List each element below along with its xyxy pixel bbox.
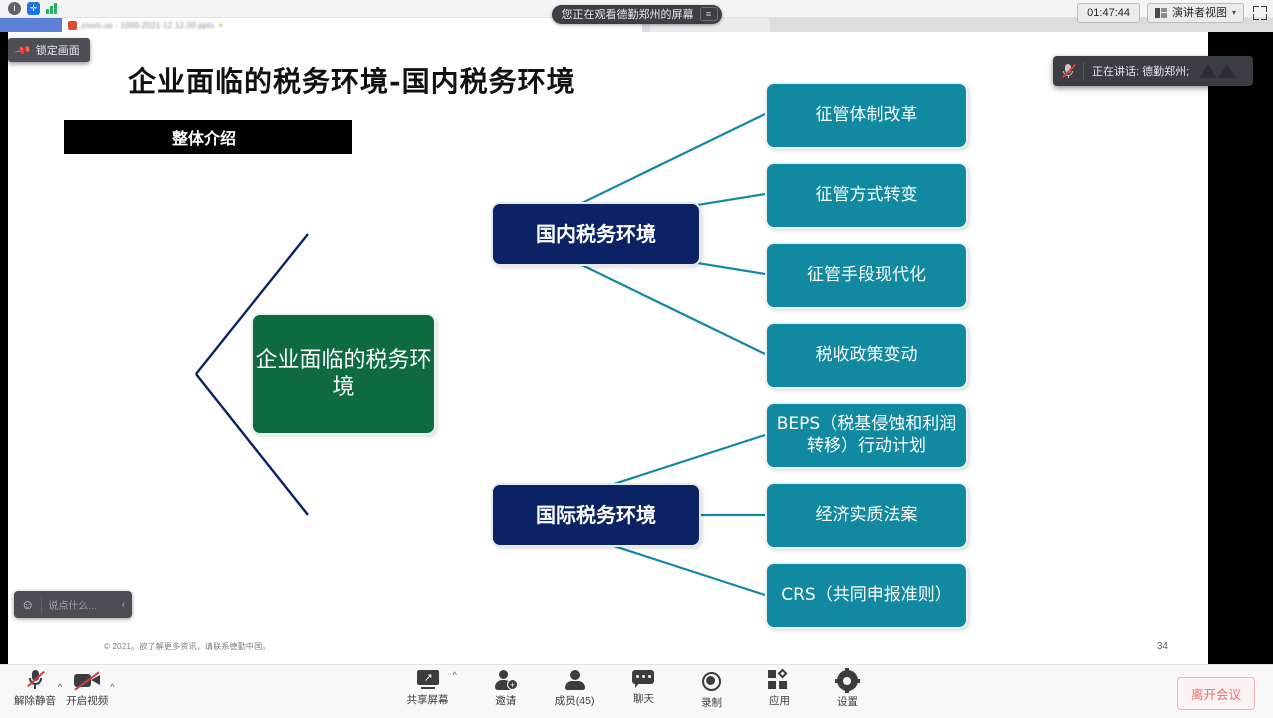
toolbar-share-screen-button[interactable]: ↗ 共享屏幕	[407, 670, 449, 707]
video-options-chevron-icon[interactable]: ^	[110, 682, 114, 692]
view-mode-label: 演讲者视图	[1172, 6, 1227, 20]
chevron-down-icon[interactable]: ▾	[1232, 8, 1236, 18]
diagram-leaf-international-2-label: 经济实质法案	[816, 505, 918, 526]
toolbar-unmute-label: 解除静音	[14, 693, 56, 708]
diagram-leaf-international-2[interactable]: 经济实质法案	[765, 482, 968, 549]
mic-muted-icon	[1061, 63, 1075, 79]
share-options-chevron-icon[interactable]: ^	[453, 670, 457, 680]
toolbar-share-screen-label: 共享屏幕	[407, 692, 449, 707]
diagram-leaf-international-3[interactable]: CRS（共同申报准则）	[765, 562, 968, 629]
diagram-connectors	[8, 32, 1208, 664]
diagram-leaf-international-1-label: BEPS（税基侵蚀和利润转移）行动计划	[773, 414, 960, 457]
pin-icon: 📌	[14, 41, 32, 59]
toolbar-record-label: 录制	[701, 695, 722, 710]
chat-bubble-icon	[632, 670, 654, 688]
meeting-timer: 01:47:44	[1077, 3, 1140, 23]
toolbar-invite-button[interactable]: + 邀请	[487, 670, 525, 708]
diagram-leaf-international-3-label: CRS（共同申报准则）	[781, 585, 951, 606]
diagram-node-branch-domestic[interactable]: 国内税务环境	[491, 202, 701, 266]
chevron-left-icon[interactable]: ‹	[122, 599, 132, 610]
diagram-leaf-domestic-4-label: 税收政策变动	[816, 345, 918, 366]
diagram-node-branch-international-label: 国际税务环境	[536, 503, 656, 528]
diagram-leaf-domestic-3[interactable]: 征管手段现代化	[765, 242, 968, 309]
record-icon	[702, 670, 721, 692]
invite-person-icon: +	[495, 670, 517, 690]
meeting-toolbar: 解除静音 ^ 开启视频 ^ ↗ 共享屏幕 ^ +	[0, 664, 1273, 718]
diagram-leaf-international-1[interactable]: BEPS（税基侵蚀和利润转移）行动计划	[765, 402, 968, 469]
view-options-icon[interactable]: ≡	[700, 7, 718, 21]
speaking-waveform-icon	[1199, 64, 1236, 78]
fullscreen-icon[interactable]	[1251, 4, 1269, 22]
video-off-icon	[74, 672, 100, 690]
shared-slide: 企业面临的税务环境-国内税务环境 整体介绍 企业面临的税务环境	[8, 32, 1208, 664]
diagram-leaf-domestic-1[interactable]: 征管体制改革	[765, 82, 968, 149]
mic-muted-icon	[27, 669, 44, 690]
gear-icon	[837, 670, 858, 691]
badge-divider	[1083, 62, 1084, 80]
diagram-leaf-domestic-2[interactable]: 征管方式转变	[765, 162, 968, 229]
toolbar-chat-button[interactable]: 聊天	[624, 670, 662, 706]
diagram-leaf-domestic-1-label: 征管体制改革	[816, 105, 918, 126]
toolbar-settings-button[interactable]: 设置	[828, 670, 866, 709]
slide-page-number: 34	[1157, 641, 1168, 652]
viewing-screen-pill: 您正在观看德勤郑州的屏幕 ≡	[552, 5, 722, 24]
toolbar-start-video-label: 开启视频	[66, 693, 108, 708]
participants-icon	[564, 670, 586, 690]
emoji-icon[interactable]: ☺	[14, 597, 41, 612]
presenter-view-icon	[1155, 8, 1167, 18]
toolbar-participants-button[interactable]: 成员(45)	[555, 670, 595, 708]
diagram-node-branch-international[interactable]: 国际税务环境	[491, 483, 701, 547]
active-speaker-label: 正在讲话: 德勤郑州;	[1092, 63, 1189, 79]
share-screen-icon: ↗	[415, 670, 441, 689]
diagram-leaf-domestic-3-label: 征管手段现代化	[807, 265, 926, 286]
toolbar-chat-label: 聊天	[633, 691, 654, 706]
toolbar-apps-button[interactable]: 应用	[760, 670, 798, 708]
zoom-top-bar: 您正在观看德勤郑州的屏幕 ≡ 01:47:44 演讲者视图 ▾	[0, 0, 1273, 28]
diagram-node-root[interactable]: 企业面临的税务环境	[251, 313, 436, 435]
lock-screen-label: 锁定画面	[36, 42, 80, 58]
toolbar-settings-label: 设置	[837, 694, 858, 709]
toolbar-unmute-button[interactable]: 解除静音	[14, 669, 56, 708]
apps-grid-icon	[768, 670, 790, 690]
toolbar-record-button[interactable]: 录制	[692, 670, 730, 710]
diagram-node-root-label: 企业面临的税务环境	[253, 347, 434, 402]
active-speaker-badge: 正在讲话: 德勤郑州;	[1053, 56, 1253, 86]
toolbar-right-group: 离开会议	[1177, 677, 1255, 710]
toolbar-left-group: 解除静音 ^ 开启视频 ^	[14, 669, 114, 708]
chat-placeholder[interactable]: 说点什么...	[42, 597, 121, 612]
lock-screen-tooltip[interactable]: 📌 锁定画面	[8, 38, 90, 62]
audio-options-chevron-icon[interactable]: ^	[58, 682, 62, 692]
diagram-node-branch-domestic-label: 国内税务环境	[536, 222, 656, 247]
diagram-leaf-domestic-2-label: 征管方式转变	[816, 185, 918, 206]
leave-meeting-button[interactable]: 离开会议	[1177, 677, 1255, 710]
toolbar-center-group: ↗ 共享屏幕 ^ + 邀请 成员(45) 聊天	[407, 670, 867, 710]
diagram-leaf-domestic-4[interactable]: 税收政策变动	[765, 322, 968, 389]
top-bar-right-group: 01:47:44 演讲者视图 ▾	[1077, 3, 1269, 23]
tax-environment-diagram: 企业面临的税务环境 国内税务环境 国际税务环境 征管体制改革 征管方式转变 征管…	[8, 32, 1208, 664]
toolbar-invite-label: 邀请	[495, 693, 516, 708]
toolbar-start-video-button[interactable]: 开启视频	[66, 672, 108, 708]
toolbar-participants-label: 成员(45)	[555, 693, 595, 708]
slide-footer: © 2021。欲了解更多资讯，请联系德勤中国。	[104, 641, 271, 652]
view-mode-select[interactable]: 演讲者视图 ▾	[1147, 3, 1244, 23]
quick-chat-input[interactable]: ☺ 说点什么... ‹	[14, 591, 132, 618]
zoom-meeting-window: i ✛ zoom.us - 1000-2021-12 12.00.pptx × …	[0, 0, 1273, 718]
viewing-screen-label: 您正在观看德勤郑州的屏幕	[562, 6, 694, 22]
toolbar-apps-label: 应用	[769, 693, 790, 708]
